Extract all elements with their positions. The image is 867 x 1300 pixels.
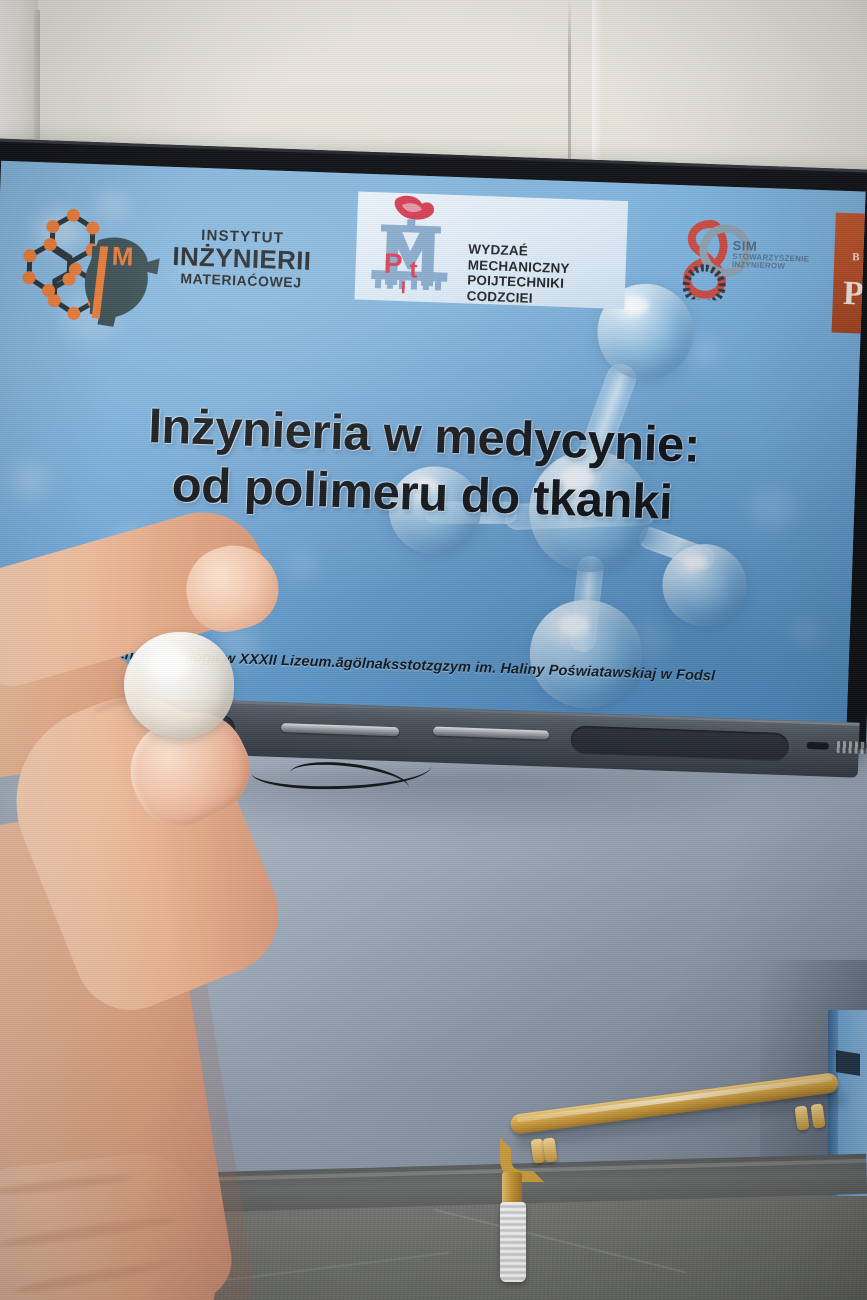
logo-wydzial-mechaniczny: P t I WYDZAÉ MECHANICZNY POIJTECHNIKI CO… xyxy=(354,191,628,309)
banner-small-letter: B xyxy=(852,251,860,263)
svg-text:P: P xyxy=(383,247,403,279)
port-row xyxy=(837,741,867,754)
hand-holding-bead xyxy=(0,520,360,1300)
logo-text-block: WYDZAÉ MECHANICZNY POIJTECHNIKI CODZCIEI xyxy=(466,241,624,309)
molecule-atom xyxy=(661,543,748,628)
logo-line-2: INŻYNIERII xyxy=(171,243,312,274)
ir-receiver-icon xyxy=(807,742,829,750)
speaker-grille xyxy=(570,725,789,761)
wooden-handrail xyxy=(440,1060,860,1250)
control-strip[interactable] xyxy=(433,727,549,740)
logo-text-block: SIM STOWARZYSZENIE INZYNIEROW xyxy=(732,239,810,272)
svg-text:I: I xyxy=(401,278,406,297)
handrail-downpipe xyxy=(502,1172,522,1206)
svg-text:M: M xyxy=(111,241,134,272)
molecule-atom xyxy=(528,598,644,710)
politechnika-crest-mark: P t I xyxy=(355,191,467,301)
banner-letter: P xyxy=(842,275,864,314)
logo-text-block: INSTYTUT INŻYNIERII MATERIAĆOWEJ xyxy=(171,227,313,290)
logo-instytut-inzynierii-materialowej: M INSTYTUT INŻYNIERII MATERIAĆOWEJ xyxy=(17,203,301,333)
photo-scene: M INSTYTUT INŻYNIERII MATERIAĆOWEJ xyxy=(0,0,867,1300)
logo-line-2: POIJTECHNIKI CODZCIEI xyxy=(466,272,623,309)
logo-anniversary-80: SIM STOWARZYSZENIE INZYNIEROW xyxy=(679,215,852,307)
logo-orange-banner: B P xyxy=(832,213,866,335)
gear-molecule-mark: M xyxy=(17,203,171,328)
hydrogel-bead xyxy=(124,632,234,738)
svg-text:t: t xyxy=(409,256,418,283)
bead-highlight xyxy=(146,648,190,678)
logo-line-3: MATERIAĆOWEJ xyxy=(171,271,311,290)
corrugated-sleeve xyxy=(500,1202,526,1282)
